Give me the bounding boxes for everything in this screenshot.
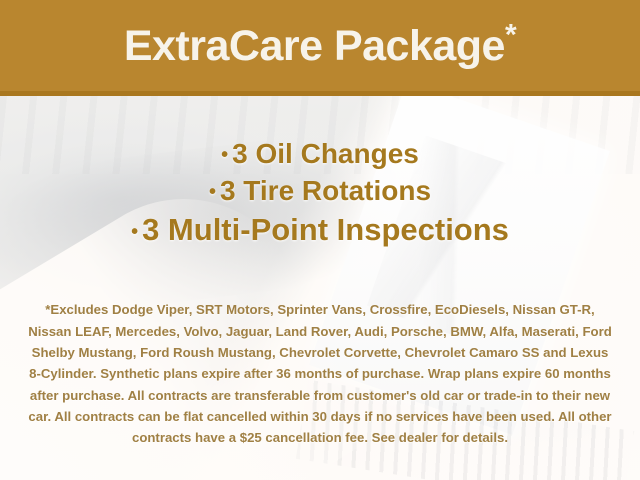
benefit-label: 3 Multi-Point Inspections: [142, 212, 509, 247]
title-asterisk: *: [505, 18, 516, 51]
extracare-package-ad: ExtraCare Package* •3 Oil Changes •3 Tir…: [0, 0, 640, 480]
benefits-list: •3 Oil Changes •3 Tire Rotations •3 Mult…: [0, 136, 640, 251]
page-title: ExtraCare Package*: [124, 25, 516, 72]
bullet-icon: •: [131, 221, 142, 243]
benefit-label: 3 Tire Rotations: [220, 175, 431, 206]
list-item: •3 Tire Rotations: [0, 173, 640, 210]
page-title-text: ExtraCare Package: [124, 22, 505, 70]
bullet-icon: •: [221, 144, 232, 166]
header-banner: ExtraCare Package*: [0, 0, 640, 96]
list-item: •3 Oil Changes: [0, 136, 640, 173]
benefit-label: 3 Oil Changes: [232, 138, 419, 169]
disclaimer-text: *Excludes Dodge Viper, SRT Motors, Sprin…: [26, 299, 614, 449]
list-item: •3 Multi-Point Inspections: [0, 210, 640, 251]
bullet-icon: •: [209, 181, 220, 203]
